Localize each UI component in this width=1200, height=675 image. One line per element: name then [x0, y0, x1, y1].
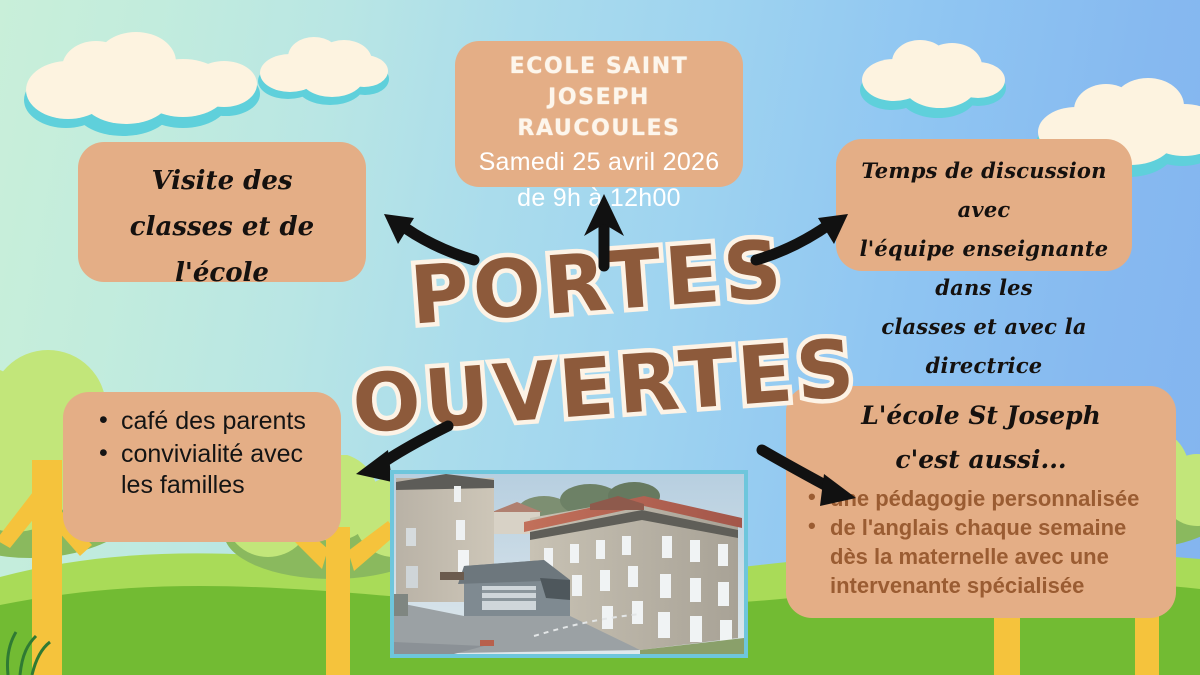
visite-text: Visite des classes et de l'école — [78, 142, 366, 296]
visite-line2: classes et de — [78, 204, 366, 250]
visite-line3: l'école — [78, 250, 366, 296]
school-name-line2: RAUCOULES — [455, 113, 743, 144]
list-item: convivialité avec les familles — [99, 439, 329, 501]
st-joseph-heading-line1: L'école St Joseph — [786, 394, 1176, 438]
arrow-to-left-top-icon — [370, 196, 480, 266]
discussion-line3: classes et avec la directrice — [836, 307, 1132, 385]
poster-canvas: ECOLE SAINT JOSEPH RAUCOULES Samedi 25 a… — [0, 0, 1200, 675]
cafe-bullet-list: café des parents convivialité avec les f… — [63, 392, 341, 501]
discussion-line2: l'équipe enseignante dans les — [836, 229, 1132, 307]
card-temps-discussion: Temps de discussion avec l'équipe enseig… — [836, 139, 1132, 271]
school-name-line1: ECOLE SAINT JOSEPH — [455, 51, 743, 113]
arrow-to-right-bottom-icon — [758, 438, 874, 514]
cloud-top-left-small — [252, 27, 392, 107]
list-item: café des parents — [99, 406, 329, 437]
cloud-top-right-small — [852, 28, 1012, 123]
arrow-to-header-icon — [578, 192, 630, 268]
school-building-photo — [390, 470, 748, 658]
visite-line1: Visite des — [78, 158, 366, 204]
header-card: ECOLE SAINT JOSEPH RAUCOULES Samedi 25 a… — [455, 41, 743, 187]
list-item: de l'anglais chaque semaine dès la mater… — [808, 513, 1168, 600]
discussion-line1: Temps de discussion avec — [836, 151, 1132, 229]
card-visite-classes: Visite des classes et de l'école — [78, 142, 366, 282]
event-date: Samedi 25 avril 2026 — [455, 144, 743, 180]
discussion-text: Temps de discussion avec l'équipe enseig… — [836, 139, 1132, 385]
cloud-top-left — [18, 22, 268, 142]
card-cafe-parents: café des parents convivialité avec les f… — [63, 392, 341, 542]
grass-tuft-left — [0, 600, 60, 675]
arrow-to-right-top-icon — [752, 198, 862, 268]
